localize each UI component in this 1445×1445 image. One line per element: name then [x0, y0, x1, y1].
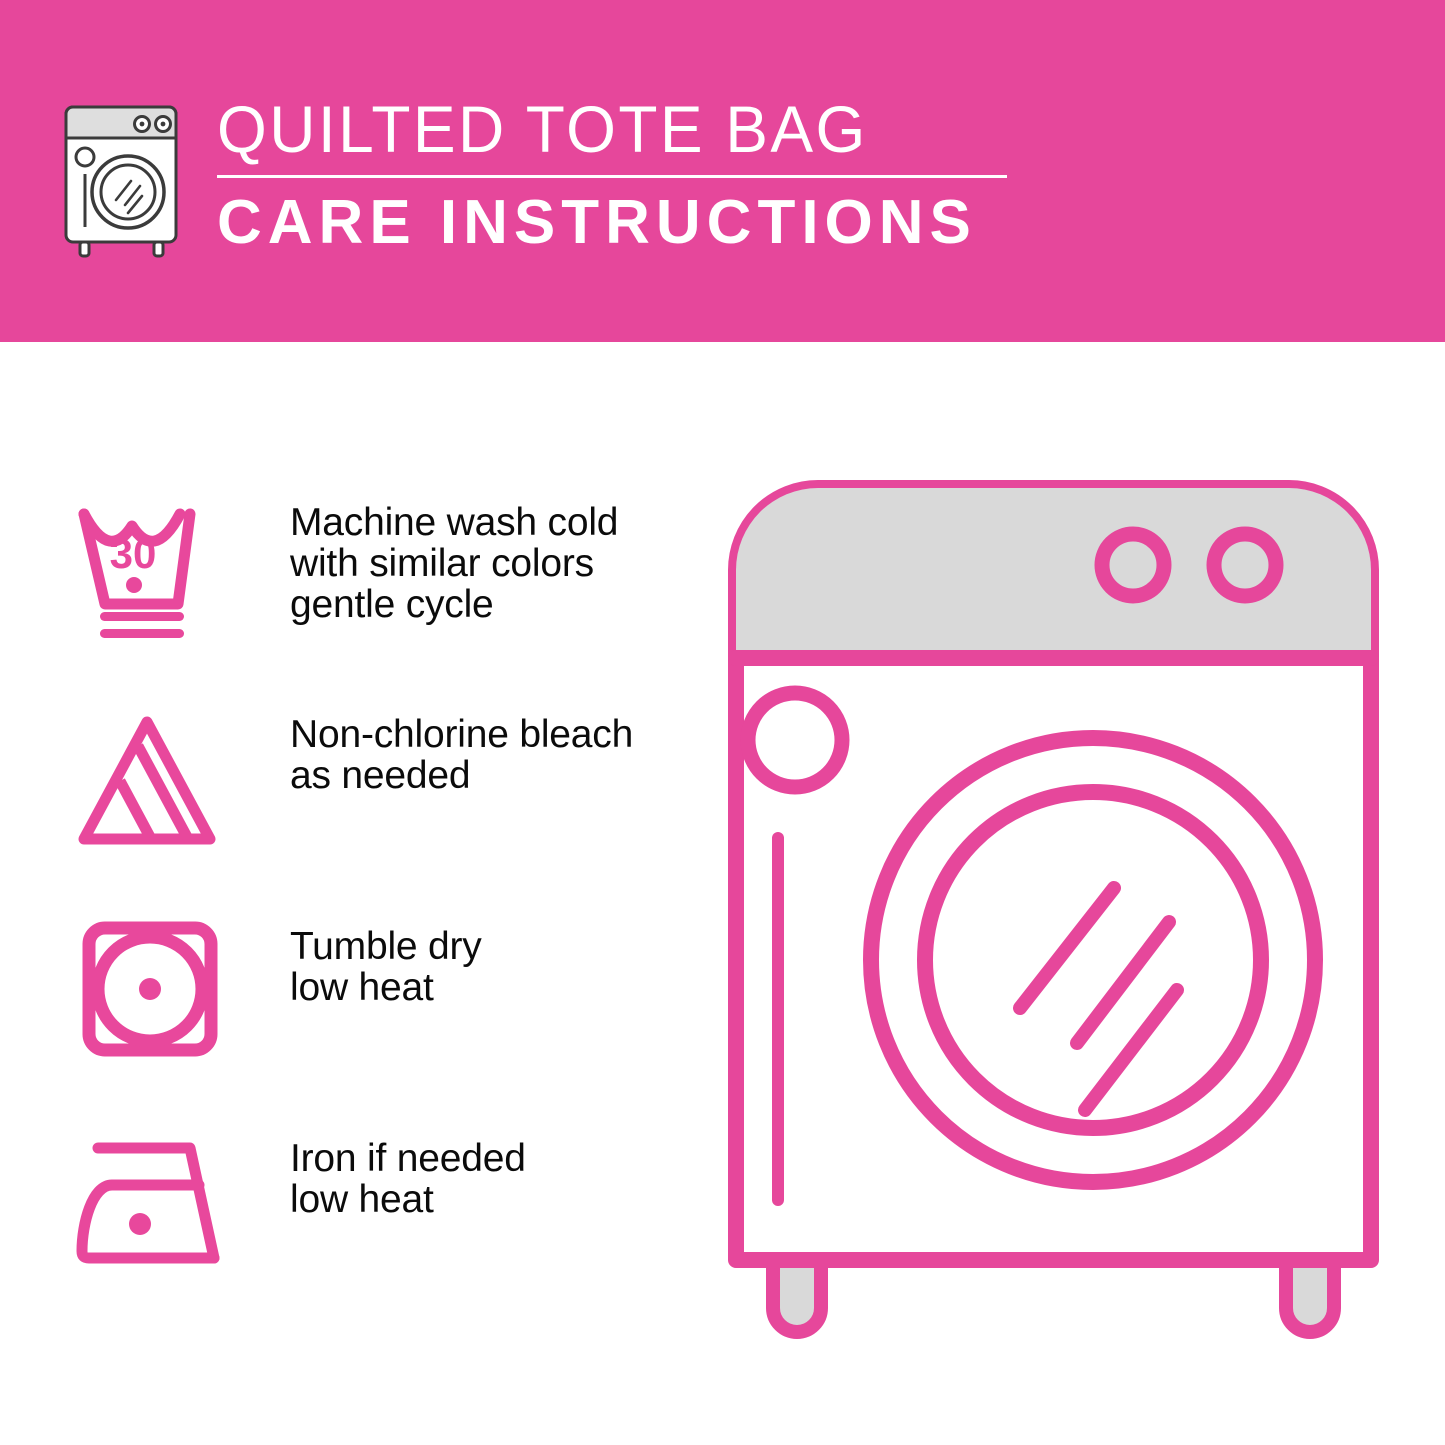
- care-instructions-list: 30 Machine wash cold with similar colors…: [72, 492, 692, 1340]
- care-label-tumble-dry: Tumble dry low heat: [290, 916, 482, 1008]
- care-label-line: low heat: [290, 967, 482, 1008]
- iron-icon: [72, 1128, 232, 1278]
- care-label-line: Machine wash cold: [290, 502, 618, 543]
- care-row-iron: Iron if needed low heat: [72, 1128, 692, 1340]
- care-row-bleach: Non-chlorine bleach as needed: [72, 704, 692, 916]
- care-label-iron: Iron if needed low heat: [290, 1128, 526, 1220]
- care-label-line: Non-chlorine bleach: [290, 714, 633, 755]
- care-label-line: gentle cycle: [290, 584, 618, 625]
- care-label-line: Iron if needed: [290, 1138, 526, 1179]
- tumble-dry-icon: [72, 916, 232, 1066]
- care-label-line: with similar colors: [290, 543, 618, 584]
- page-title: QUILTED TOTE BAG: [217, 95, 983, 163]
- non-chlorine-bleach-icon: [72, 704, 232, 854]
- section-title: CARE INSTRUCTIONS: [217, 191, 1007, 255]
- care-row-tumble-dry: Tumble dry low heat: [72, 916, 692, 1128]
- washing-machine-illustration: [718, 470, 1408, 1370]
- care-label-line: Tumble dry: [290, 926, 482, 967]
- wash-temperature-value: 30: [110, 530, 157, 577]
- header-banner: QUILTED TOTE BAG CARE INSTRUCTIONS: [0, 0, 1445, 342]
- care-label-line: as needed: [290, 755, 633, 796]
- care-label-bleach: Non-chlorine bleach as needed: [290, 704, 633, 796]
- header-text-block: QUILTED TOTE BAG CARE INSTRUCTIONS: [217, 95, 1007, 255]
- care-label-machine-wash: Machine wash cold with similar colors ge…: [290, 492, 618, 625]
- title-divider: [217, 175, 1007, 178]
- header-content: QUILTED TOTE BAG CARE INSTRUCTIONS: [60, 95, 1007, 259]
- care-label-line: low heat: [290, 1179, 526, 1220]
- machine-wash-icon: 30: [72, 492, 232, 642]
- washing-machine-icon: [60, 99, 185, 259]
- care-row-machine-wash: 30 Machine wash cold with similar colors…: [72, 492, 692, 704]
